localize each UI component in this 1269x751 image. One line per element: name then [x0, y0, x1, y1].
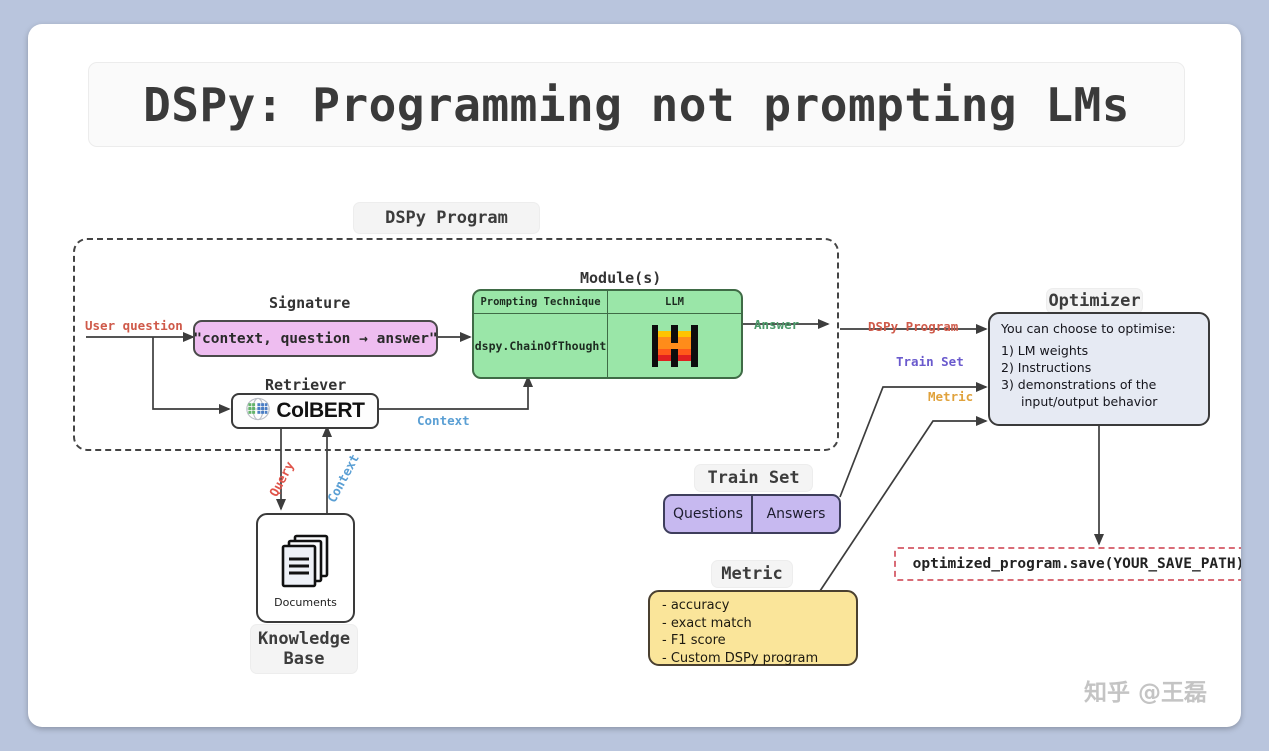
edge-label-context-module: Context: [417, 413, 470, 428]
retriever-label: Retriever: [265, 376, 346, 394]
edge-label-answer: Answer: [754, 317, 799, 332]
module-value-prompting: dspy.ChainOfThought: [474, 314, 607, 378]
saved-program-code-text: optimized_program.save(YOUR_SAVE_PATH): [913, 556, 1241, 572]
watermark: 知乎 @王磊: [1084, 673, 1207, 707]
slide-title: DSPy: Programming not prompting LMs: [88, 62, 1185, 147]
knowledge-base-label: Knowledge Base: [250, 624, 358, 674]
optimizer-heading: You can choose to optimise:: [1001, 321, 1197, 336]
colbert-name: ColBERT: [276, 399, 364, 423]
optimizer-item-2: 2) Instructions: [1001, 360, 1197, 377]
optimizer-list: 1) LM weights 2) Instructions 3) demonst…: [1001, 343, 1197, 411]
modules-box: Prompting Technique dspy.ChainOfThought …: [472, 289, 743, 379]
retriever-box: ColBERT: [231, 393, 379, 429]
edge-label-context-kb: Context: [324, 451, 362, 505]
module-value-llm: [608, 314, 741, 378]
optimizer-item-3-cont: input/output behavior: [1001, 394, 1197, 411]
optimizer-item-1: 1) LM weights: [1001, 343, 1197, 360]
signature-text: "context, question → answer": [193, 331, 437, 347]
metric-item-4: - Custom DSPy program: [662, 650, 844, 668]
edge-label-metric: Metric: [928, 389, 973, 404]
saved-program-code-box: optimized_program.save(YOUR_SAVE_PATH): [894, 547, 1241, 581]
signature-label: Signature: [269, 294, 350, 312]
colbert-grid-globe-icon: [245, 397, 271, 425]
edge-label-query: Query: [266, 459, 297, 499]
module-header-llm: LLM: [608, 291, 741, 314]
train-set-box: Questions Answers: [663, 494, 841, 534]
train-set-questions: Questions: [665, 496, 753, 532]
metric-item-1: - accuracy: [662, 597, 844, 615]
module-column-llm: LLM: [608, 291, 741, 377]
module-column-prompting: Prompting Technique dspy.ChainOfThought: [474, 291, 608, 377]
metric-label: Metric: [711, 560, 793, 588]
optimizer-item-3: 3) demonstrations of the: [1001, 377, 1197, 394]
modules-label: Module(s): [580, 269, 661, 287]
optimizer-box: You can choose to optimise: 1) LM weight…: [988, 312, 1210, 426]
signature-box: "context, question → answer": [193, 320, 438, 357]
documents-stack-icon: [275, 527, 337, 593]
knowledge-base-box: Documents: [256, 513, 355, 623]
metric-box: - accuracy - exact match - F1 score - Cu…: [648, 590, 858, 666]
edge-label-user-question: User question: [85, 318, 183, 333]
edge-label-dspy-program: DSPy Program: [868, 319, 958, 334]
screenshot-root: DSPy: Programming not prompting LMs: [0, 0, 1269, 751]
slide-card: DSPy: Programming not prompting LMs: [28, 24, 1241, 727]
metric-item-3: - F1 score: [662, 632, 844, 650]
train-set-label: Train Set: [694, 464, 813, 492]
slide-title-text: DSPy: Programming not prompting LMs: [143, 78, 1130, 132]
module-header-prompting: Prompting Technique: [474, 291, 607, 314]
dspy-program-label: DSPy Program: [353, 202, 540, 234]
mistral-logo-icon: [652, 325, 698, 367]
metric-item-2: - exact match: [662, 615, 844, 633]
optimizer-label: Optimizer: [1046, 288, 1143, 314]
train-set-answers: Answers: [753, 496, 839, 532]
documents-label: Documents: [274, 596, 337, 609]
edge-label-train-set: Train Set: [896, 354, 964, 369]
